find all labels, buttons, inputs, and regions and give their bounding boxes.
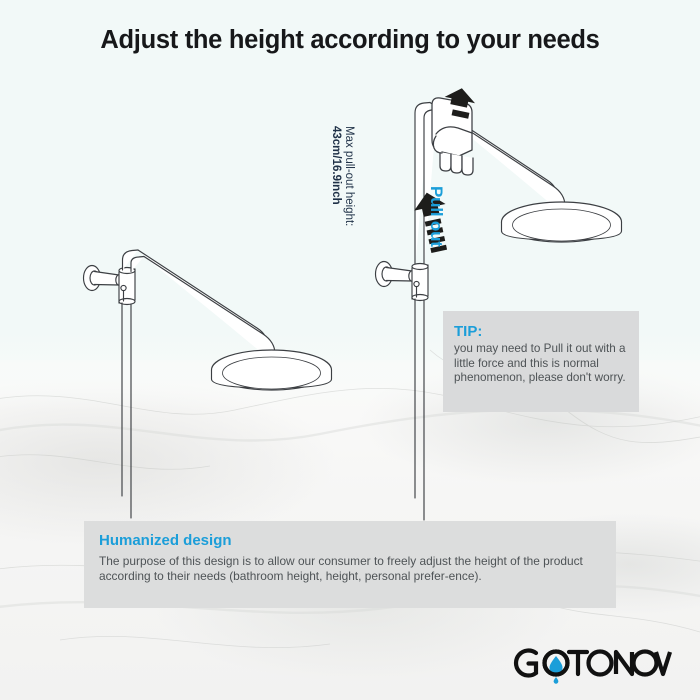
wall-flange-icon [84,266,123,291]
shower-arm-icon [123,250,276,363]
tip-body-text: you may need to Pull it out with a littl… [454,342,632,386]
wall-flange-icon [376,262,416,287]
humanized-design-box: Humanized design The purpose of this des… [84,521,616,608]
rain-shower-head-icon [212,350,332,390]
brand-logo-gotonovo [512,640,672,686]
tip-callout-box: TIP: you may need to Pull it out with a … [443,311,639,412]
pull-out-label: Pull out [426,186,446,247]
max-pullout-height-label: Max pull-out height: 43cm/16.9inch [329,126,355,296]
humanized-design-body: The purpose of this design is to allow o… [99,554,604,584]
riser-pipe-icon [415,299,424,520]
arrow-up-icon-top [440,84,488,132]
max-pullout-height-line1: Max pull-out height: [343,126,355,226]
humanized-design-heading: Humanized design [99,532,232,549]
riser-pipe-icon [122,303,131,518]
illustration-shower-retracted [72,246,352,546]
page-title: Adjust the height according to your need… [0,26,700,55]
infographic-canvas: Adjust the height according to your need… [0,0,700,700]
water-droplet-icon [549,656,562,684]
max-pullout-height-line2: 43cm/16.9inch [330,126,342,205]
slide-bar-bracket-icon [119,268,135,305]
slide-bar-bracket-icon [412,264,428,301]
tip-heading: TIP: [454,323,482,340]
rain-shower-head-icon [502,202,622,242]
